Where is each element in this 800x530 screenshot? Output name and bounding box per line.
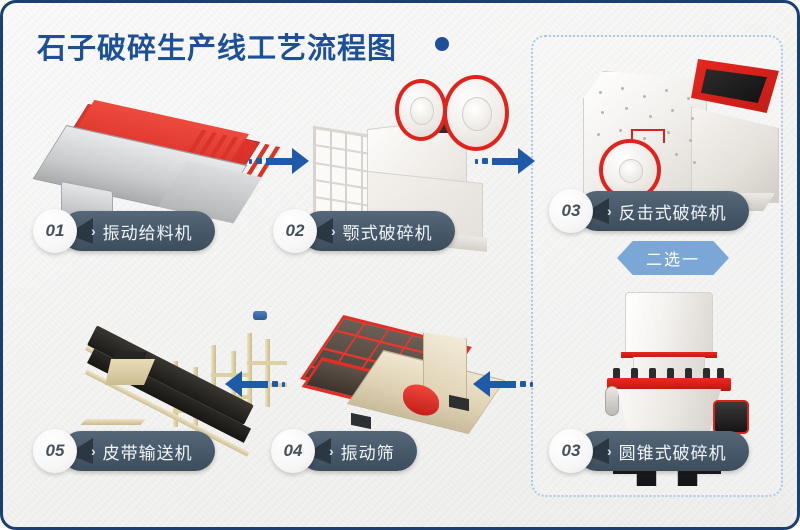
step-pill-03-cone[interactable]: › 圆锥式破碎机	[577, 431, 749, 471]
step-number-05: 05	[33, 429, 77, 473]
belt-conveyor-icon	[81, 303, 281, 433]
chevron-right-icon: ›	[607, 203, 612, 219]
chevron-right-icon: ›	[91, 223, 96, 239]
step-text-03-cone: 圆锥式破碎机	[619, 439, 727, 464]
title-dot-icon	[435, 37, 449, 51]
step-label-02[interactable]: 02 › 颚式破碎机	[273, 211, 455, 251]
step-text-04: 振动筛	[341, 439, 395, 464]
step-number-03-cone: 03	[549, 429, 593, 473]
step-label-05[interactable]: 05 › 皮带输送机	[33, 431, 215, 471]
step-label-04[interactable]: 04 › 振动筛	[271, 431, 417, 471]
step-number-02: 02	[273, 209, 317, 253]
chevron-right-icon: ›	[331, 223, 336, 239]
step-label-03-impact[interactable]: 03 › 反击式破碎机	[549, 191, 749, 231]
step-pill-01[interactable]: › 振动给料机	[61, 211, 215, 251]
step-pill-02[interactable]: › 颚式破碎机	[301, 211, 455, 251]
step-pill-04[interactable]: › 振动筛	[299, 431, 417, 471]
step-number-01: 01	[33, 209, 77, 253]
chevron-right-icon: ›	[329, 443, 334, 459]
step-text-02: 颚式破碎机	[343, 219, 433, 244]
step-pill-03-impact[interactable]: › 反击式破碎机	[577, 191, 749, 231]
flow-arrow-screen-to-belt	[225, 373, 285, 395]
chevron-right-icon: ›	[607, 443, 612, 459]
choose-one-badge: 二选一	[617, 241, 729, 275]
step-text-03-impact: 反击式破碎机	[619, 199, 727, 224]
step-pill-05[interactable]: › 皮带输送机	[61, 431, 215, 471]
flow-arrow-feeder-to-jaw	[249, 150, 309, 172]
step-text-05: 皮带输送机	[103, 439, 193, 464]
step-number-04: 04	[271, 429, 315, 473]
step-text-01: 振动给料机	[103, 219, 193, 244]
chevron-right-icon: ›	[91, 443, 96, 459]
flow-arrow-jaw-to-impact	[475, 150, 535, 172]
step-label-01[interactable]: 01 › 振动给料机	[33, 211, 215, 251]
page-title: 石子破碎生产线工艺流程图	[37, 25, 397, 67]
step-number-03-impact: 03	[549, 189, 593, 233]
flow-arrow-crusher-to-screen	[473, 373, 533, 395]
step-label-03-cone[interactable]: 03 › 圆锥式破碎机	[549, 431, 749, 471]
flowchart-canvas: 石子破碎生产线工艺流程图	[0, 0, 800, 530]
